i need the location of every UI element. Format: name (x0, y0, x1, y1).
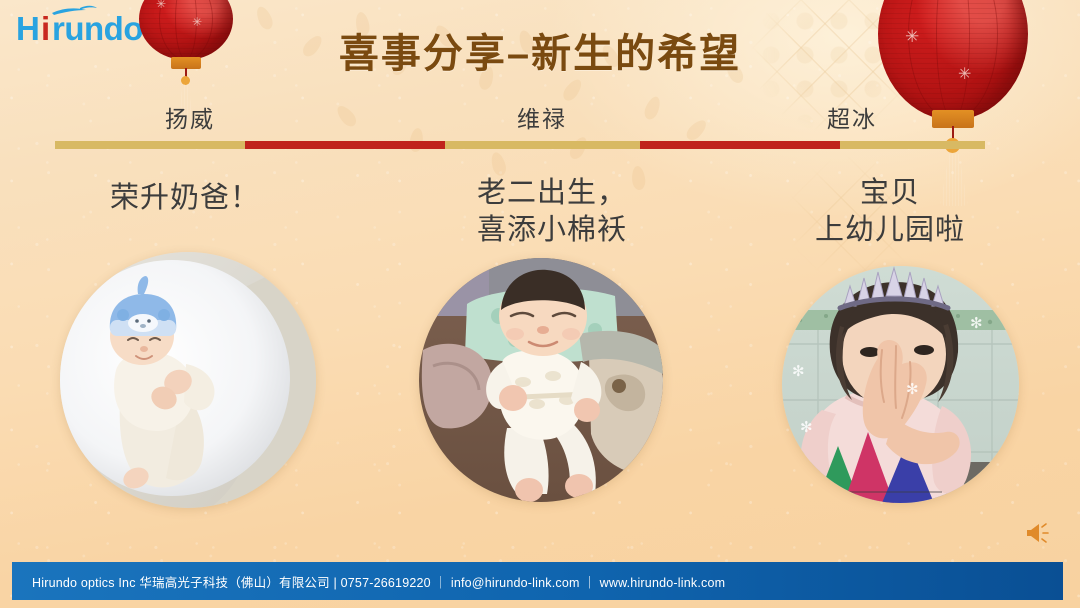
message-line: 上幼儿园啦 (730, 212, 1050, 249)
column-name-2: 维禄 (452, 100, 632, 134)
photo-baby-1-image (60, 252, 316, 508)
divider-red-segment-2 (640, 141, 840, 149)
photo-baby-3-image: ✻✻ ✻✻ (782, 266, 1019, 503)
divider-red-segment-1 (245, 141, 445, 149)
column-message-2: 老二出生， 喜添小棉袄 (392, 175, 712, 249)
column-name-3: 超冰 (762, 100, 942, 134)
column-name-1: 扬威 (100, 100, 280, 134)
page-title: 喜事分享–新生的希望 (0, 21, 1080, 79)
message-line: 荣升奶爸！ (25, 180, 345, 217)
photo-baby-1[interactable] (60, 252, 316, 508)
svg-text:✻: ✻ (800, 418, 813, 436)
speaker-icon[interactable] (1026, 522, 1050, 544)
section-divider (55, 141, 985, 149)
message-line: 老二出生， (392, 175, 712, 212)
footer-text: Hirundo optics Inc 华瑞高光子科技（佛山）有限公司 | 075… (12, 572, 725, 591)
photo-baby-2-image (419, 258, 663, 502)
svg-text:✻: ✻ (970, 314, 983, 332)
svg-text:✻: ✻ (906, 380, 919, 398)
footer-bar: Hirundo optics Inc 华瑞高光子科技（佛山）有限公司 | 075… (12, 562, 1063, 600)
message-line: 宝贝 (730, 175, 1050, 212)
speaker-icon-svg (1026, 522, 1050, 544)
svg-text:✻: ✻ (792, 362, 805, 380)
photo-baby-3[interactable]: ✻✻ ✻✻ (782, 266, 1019, 503)
column-message-1: 荣升奶爸！ (25, 180, 345, 217)
photo-baby-2[interactable] (419, 258, 663, 502)
column-message-3: 宝贝 上幼儿园啦 (730, 175, 1050, 249)
slide-canvas: H i rundo ✳ ✳ ✳ ✳ ✳ 喜事分享–新生的希望 扬威 维禄 (0, 0, 1080, 608)
message-line: 喜添小棉袄 (392, 212, 712, 249)
